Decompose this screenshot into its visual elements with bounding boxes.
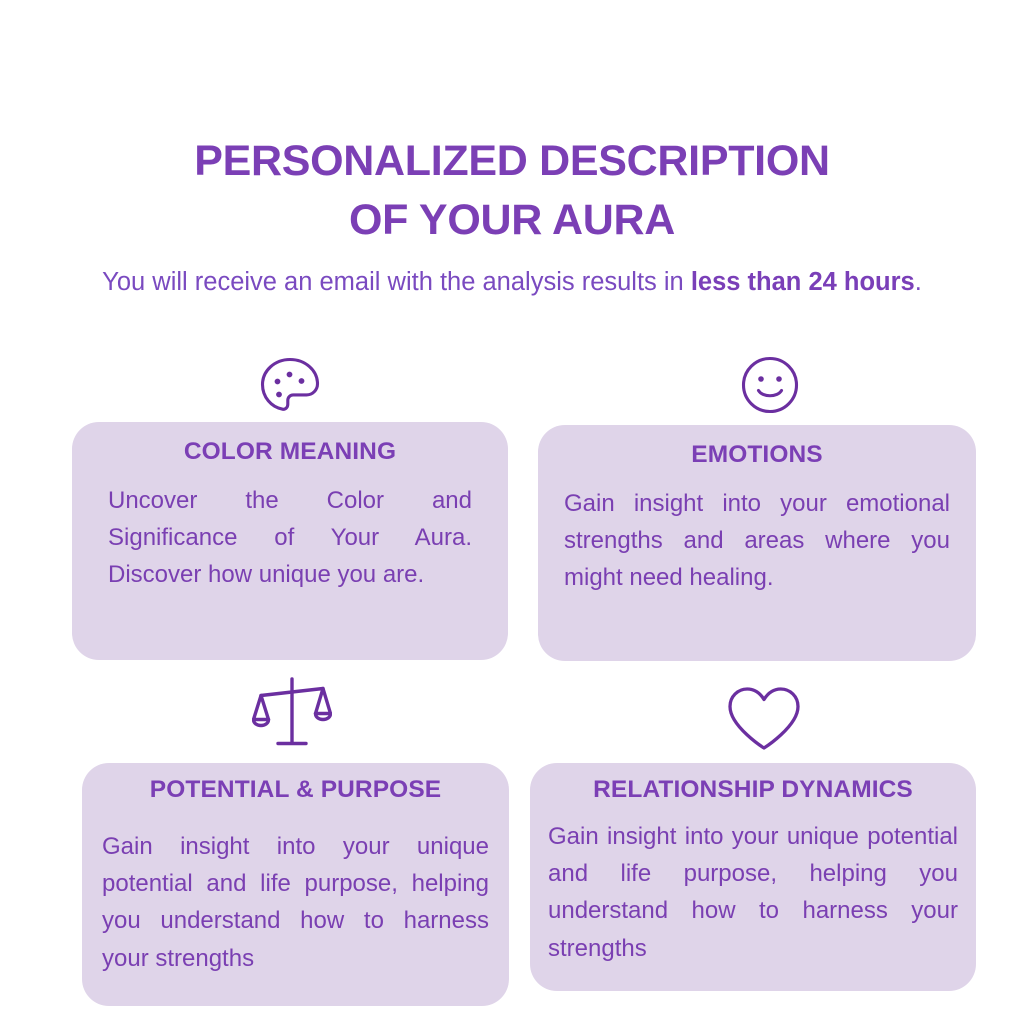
card-relationship-dynamics[interactable]: RELATIONSHIP DYNAMICS Gain insight into … (530, 763, 976, 991)
smiley-face-icon (740, 355, 800, 415)
aura-description-page: PERSONALIZED DESCRIPTION OF YOUR AURA Yo… (0, 0, 1024, 1024)
subtitle-suffix-text: . (915, 268, 922, 296)
page-title-line-2: OF YOUR AURA (0, 191, 1024, 250)
card-title-color-meaning: COLOR MEANING (108, 438, 472, 466)
heart-icon (726, 685, 802, 753)
card-color-meaning[interactable]: COLOR MEANING Uncover the Color and Sign… (72, 422, 508, 660)
subtitle-highlight-text: less than 24 hours (691, 268, 915, 296)
card-body-potential-purpose: Gain insight into your unique potential … (102, 828, 489, 977)
card-title-emotions: EMOTIONS (564, 441, 950, 469)
page-header: PERSONALIZED DESCRIPTION OF YOUR AURA Yo… (0, 132, 1024, 300)
page-title-line-1: PERSONALIZED DESCRIPTION (0, 132, 1024, 191)
card-emotions[interactable]: EMOTIONS Gain insight into your emotiona… (538, 425, 976, 661)
card-title-relationship-dynamics: RELATIONSHIP DYNAMICS (548, 776, 958, 804)
page-title: PERSONALIZED DESCRIPTION OF YOUR AURA (0, 132, 1024, 251)
card-body-emotions: Gain insight into your emotional strengt… (564, 485, 950, 597)
card-potential-purpose[interactable]: POTENTIAL & PURPOSE Gain insight into yo… (82, 763, 509, 1006)
card-body-color-meaning: Uncover the Color and Significance of Yo… (108, 482, 472, 594)
balance-scales-icon (252, 675, 332, 753)
card-body-relationship-dynamics: Gain insight into your unique potential … (548, 818, 958, 967)
palette-icon (257, 355, 323, 415)
card-title-potential-purpose: POTENTIAL & PURPOSE (102, 776, 489, 804)
subtitle-prefix-text: You will receive an email with the analy… (102, 268, 691, 296)
page-subtitle: You will receive an email with the analy… (0, 265, 1024, 300)
